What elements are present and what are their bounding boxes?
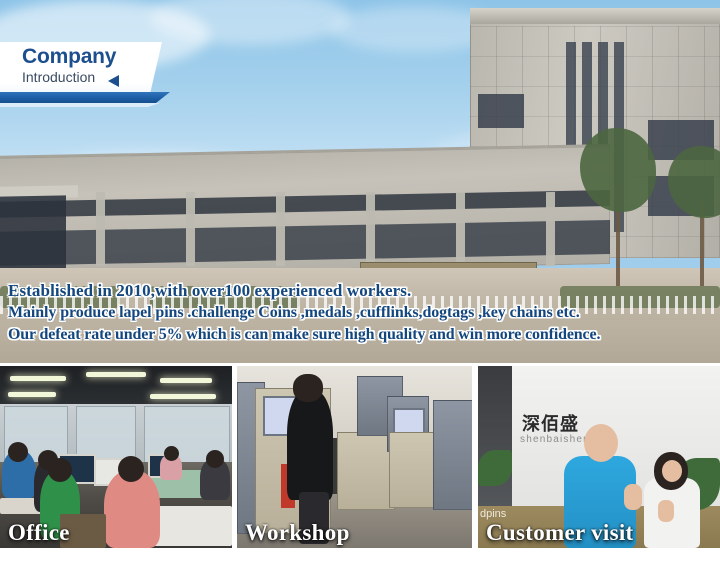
person-face bbox=[662, 460, 682, 482]
worker-head bbox=[206, 450, 224, 468]
worker-head bbox=[48, 458, 72, 482]
description-line-2: Mainly produce lapel pins .challenge Coi… bbox=[0, 302, 720, 324]
factory-pillar bbox=[366, 192, 375, 266]
customer-visit-photo: 深佰盛 shenbaisheng dpins Customer visit bbox=[478, 366, 720, 548]
photo-caption: Customer visit bbox=[486, 520, 634, 546]
factory-pillar bbox=[96, 192, 105, 266]
tree bbox=[580, 128, 656, 212]
photo-caption: Office bbox=[8, 520, 70, 546]
wall-sign-cn: 深佰盛 bbox=[522, 410, 579, 436]
description-line-3: Our defeat rate under 5% which is can ma… bbox=[0, 324, 720, 346]
factory-pillar bbox=[546, 192, 555, 266]
office-photo: Office bbox=[0, 366, 232, 548]
machine-screen bbox=[393, 408, 425, 434]
ceiling-light bbox=[160, 378, 212, 383]
left-triangle-arrow-icon bbox=[108, 75, 119, 87]
ceiling-light bbox=[86, 372, 146, 377]
ceiling-light bbox=[8, 392, 56, 397]
counter-text: dpins bbox=[480, 508, 506, 520]
factory-pillar bbox=[456, 192, 465, 266]
factory-pillar bbox=[186, 192, 195, 266]
ceiling-light bbox=[10, 376, 66, 381]
plant bbox=[478, 450, 512, 486]
factory-entrance bbox=[0, 195, 66, 274]
photo-caption: Workshop bbox=[245, 520, 350, 546]
section-header-banner: Company Introduction bbox=[0, 42, 720, 114]
tower-roof-cap bbox=[470, 8, 720, 24]
ceiling-light bbox=[150, 394, 216, 399]
reception-side-wall bbox=[478, 366, 512, 516]
workshop-worker bbox=[287, 390, 333, 500]
factory-pillar bbox=[276, 192, 285, 266]
banner-blue-bar bbox=[0, 92, 170, 103]
photo-strip: Office Workshop 深佰盛 bbox=[0, 366, 720, 548]
banner-bar-highlight bbox=[0, 103, 160, 107]
worker-head bbox=[293, 374, 323, 402]
worker-head bbox=[8, 442, 28, 462]
banner-title: Company bbox=[22, 45, 116, 69]
person-hand bbox=[658, 500, 674, 522]
company-introduction-banner: 深圳市深佰盛工艺品有限公司 ,LTD Company Introduction … bbox=[0, 0, 720, 563]
cnc-machine bbox=[433, 400, 472, 510]
person-hand bbox=[624, 484, 642, 510]
person-head bbox=[584, 424, 618, 462]
description-line-1: Established in 2010,with over100 experie… bbox=[0, 280, 720, 302]
company-description-text: Established in 2010,with over100 experie… bbox=[0, 280, 720, 346]
banner-white-plate: Company Introduction bbox=[0, 42, 162, 94]
footer-whitespace bbox=[0, 548, 720, 563]
banner-subtitle: Introduction bbox=[22, 69, 95, 85]
workshop-photo: Workshop bbox=[237, 366, 472, 548]
worker-head bbox=[118, 456, 144, 482]
worker-head bbox=[164, 446, 179, 461]
